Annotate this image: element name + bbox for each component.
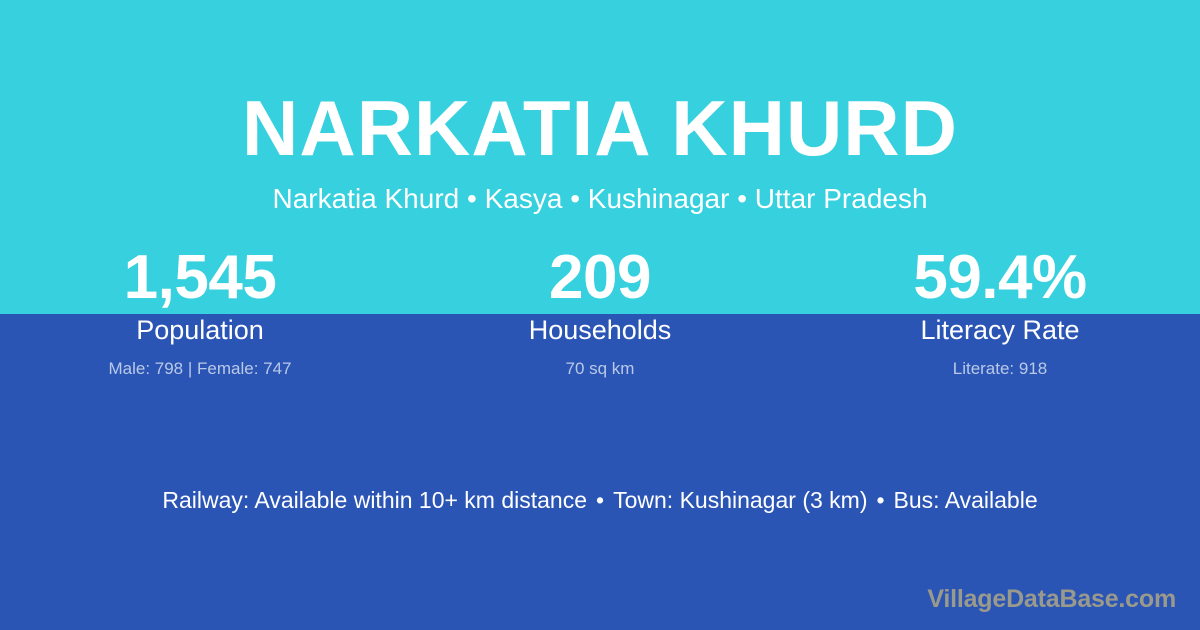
infrastructure-bus: Bus: Available bbox=[894, 487, 1038, 513]
stat-label-population: Population bbox=[0, 314, 400, 347]
stat-sub-literacy-rate: Literate: 918 bbox=[800, 358, 1200, 380]
page-title: NARKATIA KHURD bbox=[0, 82, 1200, 174]
stat-value-population: 1,545 bbox=[0, 243, 400, 313]
stat-label-literacy-rate: Literacy Rate bbox=[800, 314, 1200, 347]
site-watermark: VillageDataBase.com bbox=[927, 584, 1176, 614]
stat-label-households: Households bbox=[400, 314, 800, 347]
stat-sub-population: Male: 798 | Female: 747 bbox=[0, 358, 400, 380]
stat-sub-households: 70 sq km bbox=[400, 358, 800, 380]
village-info-card: NARKATIA KHURD Narkatia Khurd • Kasya • … bbox=[0, 0, 1200, 630]
infrastructure-separator-2: • bbox=[867, 485, 893, 515]
stats-row: 1,545 Population Male: 798 | Female: 747… bbox=[0, 243, 1200, 380]
stat-literacy-rate: 59.4% Literacy Rate Literate: 918 bbox=[800, 243, 1200, 380]
infrastructure-railway: Railway: Available within 10+ km distanc… bbox=[162, 487, 587, 513]
infrastructure-row: Railway: Available within 10+ km distanc… bbox=[0, 485, 1200, 515]
stat-value-literacy-rate: 59.4% bbox=[800, 243, 1200, 313]
stat-value-households: 209 bbox=[400, 243, 800, 313]
stat-households: 209 Households 70 sq km bbox=[400, 243, 800, 380]
infrastructure-town: Town: Kushinagar (3 km) bbox=[613, 487, 867, 513]
breadcrumb: Narkatia Khurd • Kasya • Kushinagar • Ut… bbox=[0, 182, 1200, 216]
infrastructure-separator-1: • bbox=[587, 485, 613, 515]
stat-population: 1,545 Population Male: 798 | Female: 747 bbox=[0, 243, 400, 380]
